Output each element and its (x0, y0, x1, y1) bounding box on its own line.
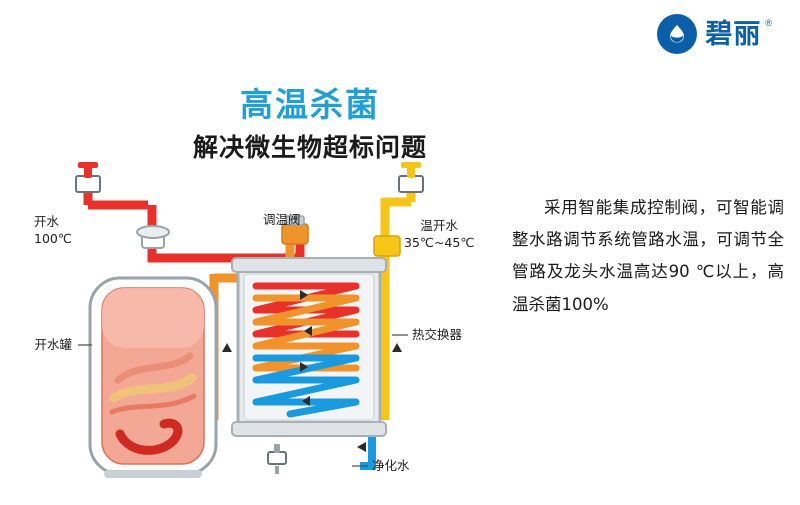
brand-name: 碧丽 (705, 21, 761, 48)
poster-root: 碧丽 ® 高温杀菌 解决微生物超标问题 采用智能集成控制阀，可智能调整水路调节系… (0, 0, 800, 500)
heat-exchanger-graphic (232, 258, 386, 436)
system-diagram: 开水 100℃ 调温阀 温开水 35℃~45℃ 开水罐 热交换器 净化水 (0, 0, 520, 500)
label-boiler-tank: 开水罐 (0, 337, 72, 354)
warm-water-faucet (399, 162, 423, 192)
brand-trademark: ® (765, 18, 772, 28)
boiler-tank-graphic (90, 226, 216, 478)
label-temp-valve: 调温阀 (263, 212, 301, 229)
warm-water-valve (374, 236, 400, 256)
water-drop-icon (657, 14, 697, 54)
brand-logo: 碧丽 ® (657, 14, 772, 54)
label-warm-water: 温开水 35℃~45℃ (404, 218, 474, 252)
description-text: 采用智能集成控制阀，可智能调整水路调节系统管路水温，可调节全管路及龙头水温高达9… (512, 192, 784, 321)
label-purified-water: 净化水 (372, 458, 410, 475)
drain-valve (268, 444, 286, 474)
label-heat-exchanger: 热交换器 (412, 327, 462, 344)
label-hot-water: 开水 100℃ (34, 214, 72, 248)
hot-water-faucet (76, 162, 100, 192)
